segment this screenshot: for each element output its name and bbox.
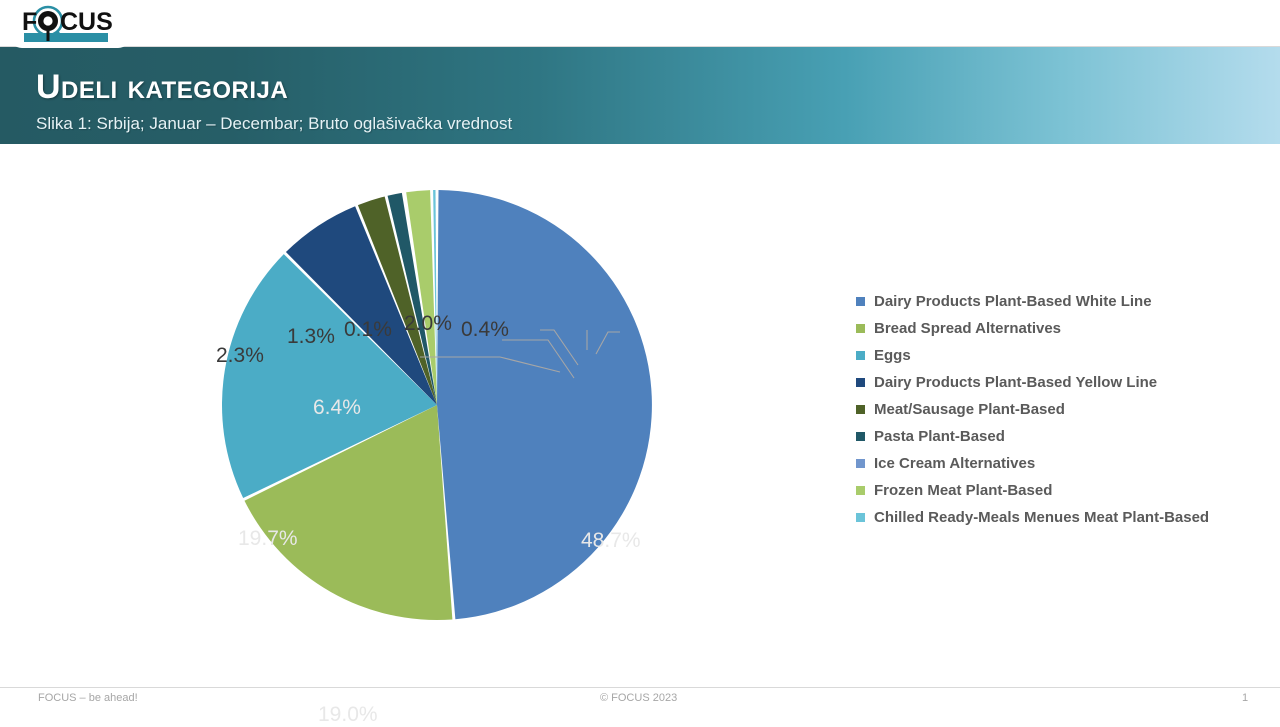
legend-item-label: Pasta Plant-Based [874,428,1005,445]
legend-item[interactable]: Meat/Sausage Plant-Based [856,396,1276,423]
data-label-1-3: 1.3% [287,325,335,349]
legend-item[interactable]: Dairy Products Plant-Based White Line [856,288,1276,315]
data-label-0-4: 0.4% [461,318,509,342]
data-label-19-7: 19.7% [238,527,298,551]
data-label-2-0: 2.0% [404,312,452,336]
legend-swatch-icon [856,432,865,441]
data-label-0-1: 0.1% [344,318,392,342]
page-title: Udeli kategorija [36,68,288,107]
focus-logo-icon: F CUS [18,4,126,46]
slide-canvas: F CUS Udeli kategorija Slika 1: Srbija; … [0,0,1280,714]
legend-swatch-icon [856,486,865,495]
pie-slice[interactable] [437,190,652,619]
page-title-text: Udeli kategorija [36,68,288,106]
data-label-48-7: 48.7% [581,529,641,553]
legend-item-label: Eggs [874,347,911,364]
legend-swatch-icon [856,324,865,333]
legend-item-label: Dairy Products Plant-Based Yellow Line [874,374,1157,391]
legend-swatch-icon [856,405,865,414]
legend-item[interactable]: Eggs [856,342,1276,369]
legend-item[interactable]: Dairy Products Plant-Based Yellow Line [856,369,1276,396]
legend-item-label: Ice Cream Alternatives [874,455,1035,472]
data-label-2-3: 2.3% [216,344,264,368]
legend-item-label: Chilled Ready-Meals Menues Meat Plant-Ba… [874,509,1209,526]
pie-chart-svg [150,150,770,670]
pie-slices [222,190,652,620]
legend-item-label: Frozen Meat Plant-Based [874,482,1052,499]
footer-page-number: 1 [1242,692,1248,704]
legend-swatch-icon [856,351,865,360]
legend-item[interactable]: Bread Spread Alternatives [856,315,1276,342]
legend-swatch-icon [856,297,865,306]
svg-text:CUS: CUS [60,8,113,36]
data-label-6-4: 6.4% [313,396,361,420]
legend-swatch-icon [856,459,865,468]
legend-item[interactable]: Chilled Ready-Meals Menues Meat Plant-Ba… [856,504,1276,531]
slide-footer: FOCUS – be ahead! © FOCUS 2023 1 [0,688,1280,714]
svg-text:F: F [22,8,37,36]
footer-tagline: FOCUS – be ahead! [38,692,138,704]
legend-item-label: Dairy Products Plant-Based White Line [874,293,1152,310]
legend-item[interactable]: Pasta Plant-Based [856,423,1276,450]
legend-item-label: Bread Spread Alternatives [874,320,1061,337]
legend-item[interactable]: Frozen Meat Plant-Based [856,477,1276,504]
page-subtitle: Slika 1: Srbija; Januar – Decembar; Brut… [36,114,512,134]
chart-legend: Dairy Products Plant-Based White LineBre… [856,288,1276,531]
legend-item[interactable]: Ice Cream Alternatives [856,450,1276,477]
legend-item-label: Meat/Sausage Plant-Based [874,401,1065,418]
footer-copyright: © FOCUS 2023 [600,692,677,704]
legend-swatch-icon [856,378,865,387]
legend-swatch-icon [856,513,865,522]
